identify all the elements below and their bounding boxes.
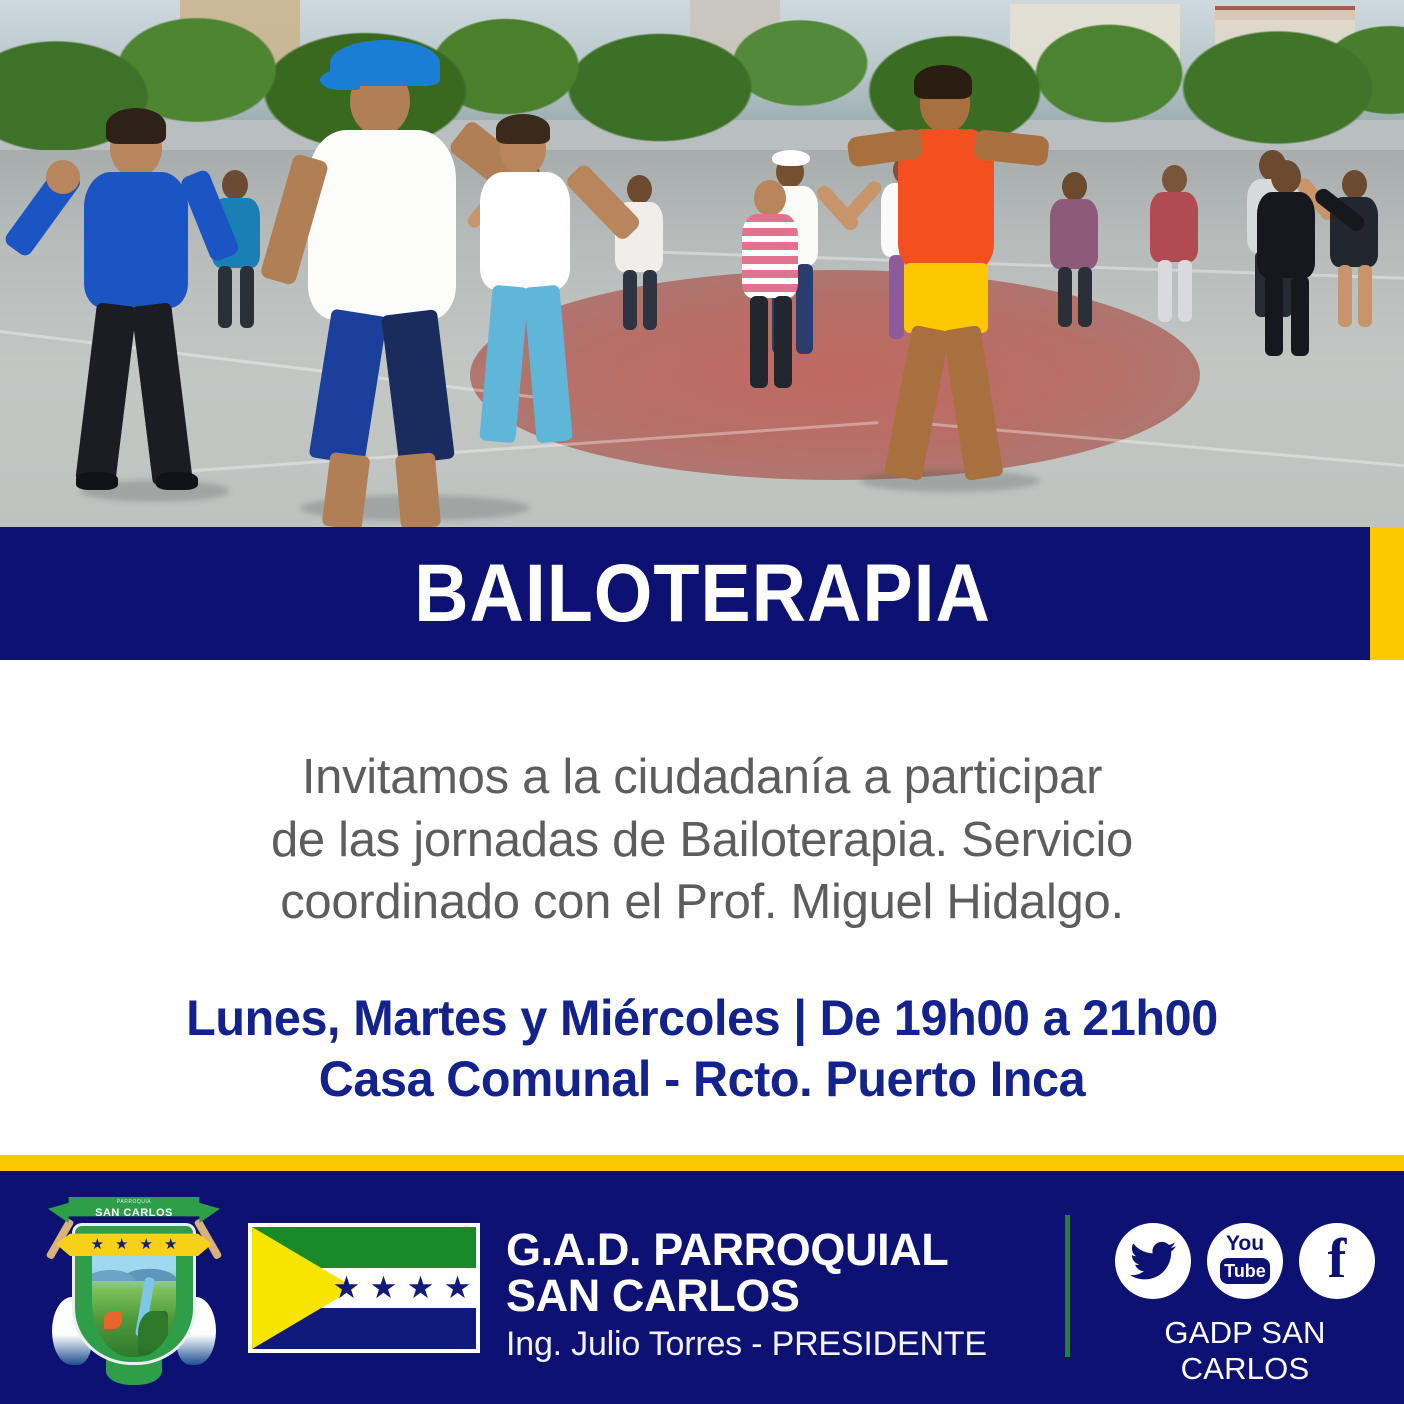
landscape-flower [104, 1311, 122, 1329]
organization-name-line1: G.A.D. PARROQUIAL [506, 1227, 1026, 1273]
facebook-f-glyph: f [1328, 1231, 1347, 1287]
flag-icon: ★ ★ ★ ★ [248, 1223, 480, 1353]
organization-president: Ing. Julio Torres - PRESIDENTE [506, 1325, 1026, 1364]
shield-star: ★ [115, 1237, 128, 1252]
treeline [0, 0, 1404, 175]
schedule-line-2: Casa Comunal - Rcto. Puerto Inca [50, 1049, 1354, 1110]
social-handle: GADP SAN CARLOS [1104, 1315, 1386, 1387]
flag-star: ★ [370, 1272, 398, 1303]
youtube-tube-text: Tube [1220, 1258, 1270, 1284]
schedule-text: Lunes, Martes y Miércoles | De 19h00 a 2… [21, 988, 1383, 1110]
ribbon-title: SAN CARLOS [48, 1207, 220, 1219]
intro-text: Invitamos a la ciudadanía a participar d… [0, 746, 1404, 934]
shield-star-band: ★ ★ ★ ★ [56, 1231, 212, 1257]
footer-divider [1065, 1215, 1070, 1357]
coat-of-arms-icon: PARROQUIA SAN CARLOS ★ ★ ★ ★ [44, 1193, 224, 1389]
shield-star: ★ [140, 1237, 153, 1252]
organization-block: G.A.D. PARROQUIAL SAN CARLOS Ing. Julio … [506, 1227, 1026, 1364]
flag-star: ★ [407, 1272, 435, 1303]
shield-star: ★ [164, 1237, 177, 1252]
youtube-icon[interactable]: You Tube [1207, 1223, 1283, 1299]
flag-bands: ★ ★ ★ ★ [252, 1227, 476, 1349]
social-icon-row: You Tube f [1104, 1223, 1386, 1299]
facebook-icon[interactable]: f [1299, 1223, 1375, 1299]
page-title: BAILOTERAPIA [414, 553, 991, 635]
flag-star: ★ [333, 1272, 361, 1303]
ribbon-subtitle: PARROQUIA [48, 1199, 220, 1205]
title-banner: BAILOTERAPIA [0, 527, 1404, 660]
body-content: Invitamos a la ciudadanía a participar d… [0, 660, 1404, 1155]
banner-accent-bar [1370, 527, 1404, 660]
organization-name-line2: SAN CARLOS [506, 1273, 1026, 1319]
footer: PARROQUIA SAN CARLOS ★ ★ ★ ★ ★ ★ ★ ★ [0, 1171, 1404, 1404]
flag-star-row: ★ ★ ★ ★ [333, 1268, 472, 1309]
youtube-you-text: You [1207, 1233, 1283, 1254]
landscape-hills [92, 1259, 176, 1281]
intro-line-3: coordinado con el Prof. Miguel Hidalgo. [74, 871, 1330, 934]
twitter-icon[interactable] [1115, 1223, 1191, 1299]
social-block: You Tube f GADP SAN CARLOS [1104, 1223, 1386, 1387]
intro-line-2: de las jornadas de Bailoterapia. Servici… [74, 809, 1330, 872]
poster-root: BAILOTERAPIA Invitamos a la ciudadanía a… [0, 0, 1404, 1404]
flag-star: ★ [444, 1272, 472, 1303]
landscape-foliage [138, 1311, 168, 1355]
footer-accent-stripe [0, 1155, 1404, 1171]
shield-landscape [92, 1245, 176, 1357]
shield-star: ★ [91, 1237, 104, 1252]
intro-line-1: Invitamos a la ciudadanía a participar [74, 746, 1330, 809]
bailoterapia-photo [0, 0, 1404, 527]
schedule-line-1: Lunes, Martes y Miércoles | De 19h00 a 2… [50, 988, 1354, 1049]
